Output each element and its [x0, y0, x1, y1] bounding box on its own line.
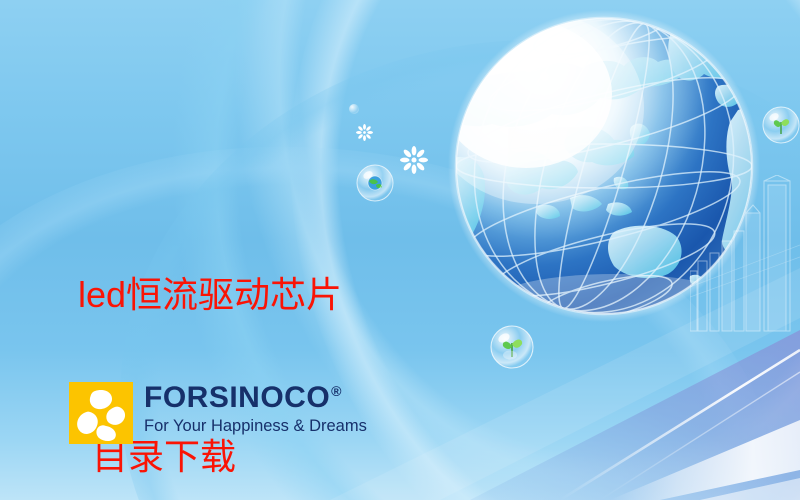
brand-logo: FORSINOCO ® For Your Happiness & Dreams — [69, 382, 367, 444]
headline-line-1: led恒流驱动芯片 — [78, 268, 418, 322]
logo-text-block: FORSINOCO ® For Your Happiness & Dreams — [144, 383, 367, 435]
flower-small-upper-icon — [356, 124, 373, 146]
brand-name: FORSINOCO ® — [144, 383, 367, 413]
brand-tagline: For Your Happiness & Dreams — [144, 417, 367, 435]
registered-trademark-icon: ® — [331, 384, 342, 398]
city-skyline-silhouette — [690, 175, 800, 350]
brand-name-text: FORSINOCO — [144, 383, 330, 413]
page-title: led恒流驱动芯片 目录下载 — [78, 160, 418, 500]
bubble-sprout-icon — [490, 325, 534, 369]
forsinoco-pinwheel-mark-icon — [69, 382, 133, 444]
bubble-tiny-top-icon — [349, 104, 359, 114]
banner-image: led恒流驱动芯片 目录下载 FORSINOCO ® — [0, 0, 800, 500]
